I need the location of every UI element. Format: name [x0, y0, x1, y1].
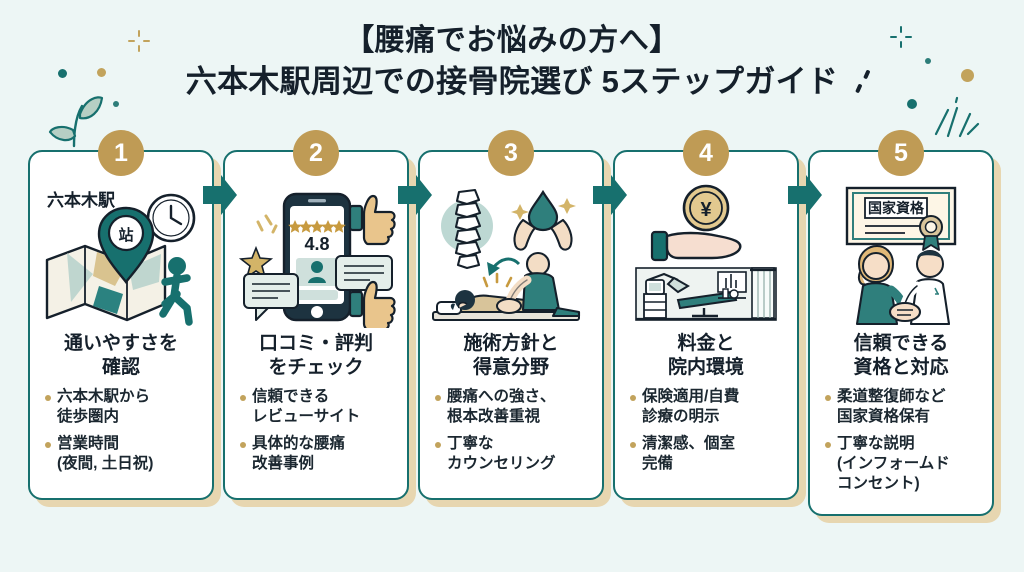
yen-coin-hand-clinic-room-icon: ¥ — [622, 182, 790, 328]
arrow-step1-to-step2 — [203, 175, 237, 215]
svg-text:¥: ¥ — [700, 199, 712, 221]
step-1-number-badge: 1 — [98, 130, 144, 176]
step-5-bullets: 柔道整復師など 国家資格保有 丁寧な説明 (インフォームド コンセント) — [819, 387, 983, 502]
step-2-bullets: 信頼できる レビューサイト 具体的な腰痛 改善事例 — [234, 387, 398, 482]
bullet-item: 具体的な腰痛 改善事例 — [240, 434, 396, 474]
svg-text:六本木駅: 六本木駅 — [47, 190, 116, 210]
svg-text:4.8: 4.8 — [304, 234, 329, 254]
bullet-item: 六本木駅から 徒歩圏内 — [45, 387, 201, 427]
bullet-text: 清潔感、個室 完備 — [642, 434, 735, 474]
bullet-item: 丁寧な カウンセリング — [435, 434, 591, 474]
svg-text:国家資格: 国家資格 — [868, 200, 925, 216]
burst-lines-icon — [930, 96, 980, 138]
step-2-title: 口コミ・評判 をチェック — [259, 332, 373, 380]
title-line-1: 【腰痛でお悩みの方へ】 — [0, 22, 1024, 60]
bullet-item: 清潔感、個室 完備 — [630, 434, 786, 474]
step-2-number-badge: 2 — [293, 130, 339, 176]
bullet-text: 信頼できる レビューサイト — [252, 387, 360, 427]
bullet-text: 丁寧な説明 (インフォームド コンセント) — [837, 434, 950, 494]
bullet-dot-icon — [630, 395, 636, 401]
bullet-dot-icon — [45, 442, 51, 448]
bullet-item: 柔道整復師など 国家資格保有 — [825, 387, 981, 427]
bullet-dot-icon — [45, 395, 51, 401]
step-4-title: 料金と 院内環境 — [668, 332, 744, 380]
title-line-2: 六本木駅周辺での接骨院選び 5ステップガイド — [0, 62, 1024, 102]
step-3-card-body[interactable]: 3 — [418, 150, 604, 500]
arrow-step2-to-step3 — [398, 175, 432, 215]
bullet-dot-icon — [240, 442, 246, 448]
step-5-number-badge: 5 — [878, 130, 924, 176]
bullet-dot-icon — [825, 442, 831, 448]
step-card-1[interactable]: 1 六本木駅 站 通い — [28, 150, 214, 500]
bullet-item: 信頼できる レビューサイト — [240, 387, 396, 427]
arrow-step4-to-step5 — [788, 175, 822, 215]
svg-text:站: 站 — [118, 226, 133, 244]
bullet-dot-icon — [825, 395, 831, 401]
step-card-2[interactable]: 2 4.8 — [223, 150, 409, 500]
bullet-text: 丁寧な カウンセリング — [447, 434, 556, 474]
bullet-dot-icon — [435, 395, 441, 401]
bullet-dot-icon — [435, 442, 441, 448]
bullet-text: 具体的な腰痛 改善事例 — [252, 434, 345, 474]
bullet-text: 腰痛への強さ、 根本改善重視 — [447, 387, 556, 427]
step-4-number-badge: 4 — [683, 130, 729, 176]
smartphone-reviews-rating-icon: 4.8 — [232, 182, 400, 328]
bullet-text: 柔道整復師など 国家資格保有 — [837, 387, 946, 427]
page-title: 【腰痛でお悩みの方へ】 六本木駅周辺での接骨院選び 5ステップガイド — [0, 22, 1024, 102]
step-card-3[interactable]: 3 — [418, 150, 604, 500]
step-1-card-body[interactable]: 1 六本木駅 站 通い — [28, 150, 214, 500]
step-card-4[interactable]: 4 ¥ — [613, 150, 799, 500]
spine-hands-droplet-massage-icon — [427, 182, 595, 328]
step-5-title: 信頼できる 資格と対応 — [853, 332, 948, 380]
map-station-clock-walker-icon: 六本木駅 站 — [37, 182, 205, 328]
bullet-item: 保険適用/自費 診療の明示 — [630, 387, 786, 427]
steps-container: 1 六本木駅 站 通い — [0, 150, 1024, 550]
step-3-bullets: 腰痛への強さ、 根本改善重視 丁寧な カウンセリング — [429, 387, 593, 482]
step-1-title: 通いやすさを 確認 — [64, 332, 178, 380]
certificate-handshake-icon: 国家資格 — [817, 182, 985, 328]
bullet-item: 腰痛への強さ、 根本改善重視 — [435, 387, 591, 427]
dot-teal — [113, 101, 119, 107]
bullet-dot-icon — [630, 442, 636, 448]
step-3-title: 施術方針と 得意分野 — [463, 332, 558, 380]
step-card-5[interactable]: 5 国家資格 — [808, 150, 994, 516]
step-1-bullets: 六本木駅から 徒歩圏内 営業時間 (夜間, 土日祝) — [39, 387, 203, 482]
bullet-text: 六本木駅から 徒歩圏内 — [57, 387, 150, 427]
step-3-number-badge: 3 — [488, 130, 534, 176]
step-2-card-body[interactable]: 2 4.8 — [223, 150, 409, 500]
step-5-card-body[interactable]: 5 国家資格 — [808, 150, 994, 516]
bullet-item: 丁寧な説明 (インフォームド コンセント) — [825, 434, 981, 494]
step-4-bullets: 保険適用/自費 診療の明示 清潔感、個室 完備 — [624, 387, 788, 482]
bullet-dot-icon — [240, 395, 246, 401]
arrow-step3-to-step4 — [593, 175, 627, 215]
bullet-item: 営業時間 (夜間, 土日祝) — [45, 434, 201, 474]
step-4-card-body[interactable]: 4 ¥ — [613, 150, 799, 500]
bullet-text: 営業時間 (夜間, 土日祝) — [57, 434, 153, 474]
bullet-text: 保険適用/自費 診療の明示 — [642, 387, 739, 427]
